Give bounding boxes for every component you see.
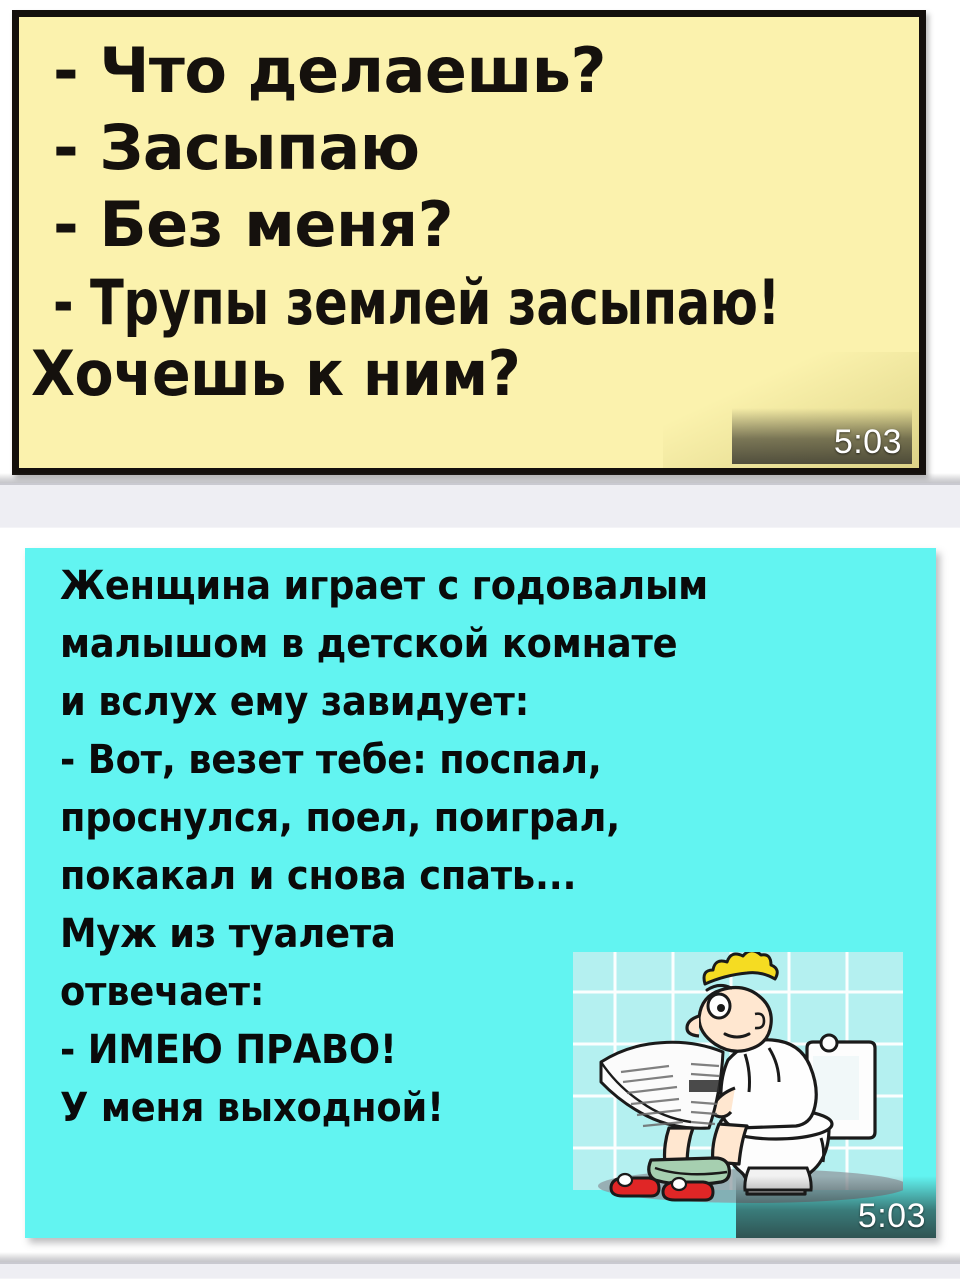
duration-badge: 5:03 xyxy=(732,408,912,464)
joke-line: - Трупы землей засыпаю! xyxy=(53,271,741,334)
joke-line: - Засыпаю xyxy=(53,116,913,179)
joke-line: Хочешь к ним? xyxy=(31,342,842,405)
media-feed: - Что делаешь? - Засыпаю - Без меня? - Т… xyxy=(0,0,960,1276)
feed-separator xyxy=(0,1262,960,1279)
joke-line: малышом в детской комнате xyxy=(60,624,853,664)
man-on-toilet-reading-newspaper-cartoon-icon xyxy=(573,952,903,1208)
joke-card-cyan[interactable]: Женщина играет с годовалым малышом в дет… xyxy=(25,548,936,1238)
joke-card-yellow[interactable]: - Что делаешь? - Засыпаю - Без меня? - Т… xyxy=(12,10,926,475)
joke-line: - Без меня? xyxy=(53,193,913,256)
joke-text-yellow: - Что делаешь? - Засыпаю - Без меня? - Т… xyxy=(53,23,913,405)
joke-line: Женщина играет с годовалым xyxy=(60,566,853,606)
joke-line: проснулся, поел, поиграл, xyxy=(60,798,853,838)
joke-line: и вслух ему завидует: xyxy=(60,682,853,722)
joke-line: - Что делаешь? xyxy=(53,39,913,102)
joke-line: Муж из туалета xyxy=(60,914,853,954)
joke-line: - Вот, везет тебе: поспал, xyxy=(60,740,853,780)
feed-separator xyxy=(0,483,960,528)
joke-line: покакал и снова спать... xyxy=(60,856,853,896)
feed-shadow xyxy=(0,1252,960,1262)
